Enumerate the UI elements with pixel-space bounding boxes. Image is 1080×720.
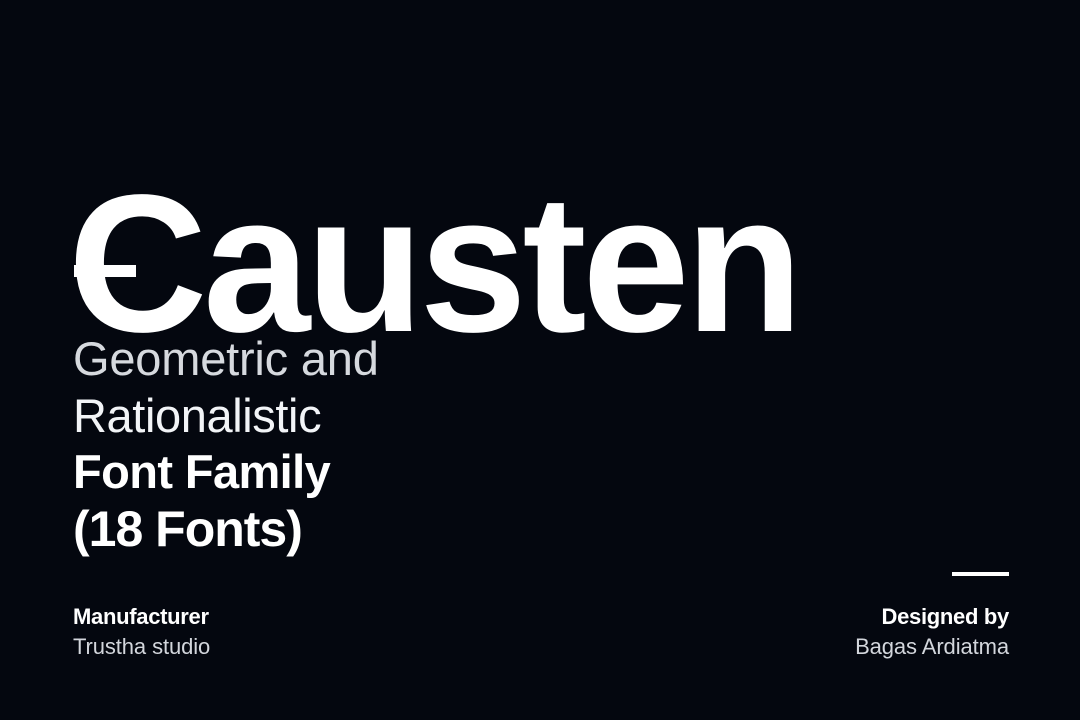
credit-designer-role: Designed by [855, 602, 1009, 632]
credit-manufacturer-name: Trustha studio [73, 632, 210, 662]
tagline-block: Geometric and Rationalistic Font Family … [73, 330, 693, 558]
tagline-line-1: Geometric and [73, 330, 693, 387]
divider-rule-primary [74, 265, 136, 277]
divider-rule-secondary [952, 572, 1009, 576]
credit-manufacturer: Manufacturer Trustha studio [73, 602, 210, 662]
credit-manufacturer-role: Manufacturer [73, 602, 210, 632]
tagline-line-2: Rationalistic [73, 387, 693, 444]
font-specimen-poster: Causten Geometric and Rationalistic Font… [0, 0, 1080, 720]
credit-designer-name: Bagas Ardiatma [855, 632, 1009, 662]
tagline-line-3: Font Family [73, 444, 693, 500]
tagline-line-4: (18 Fonts) [73, 500, 693, 558]
credit-designer: Designed by Bagas Ardiatma [855, 602, 1009, 662]
